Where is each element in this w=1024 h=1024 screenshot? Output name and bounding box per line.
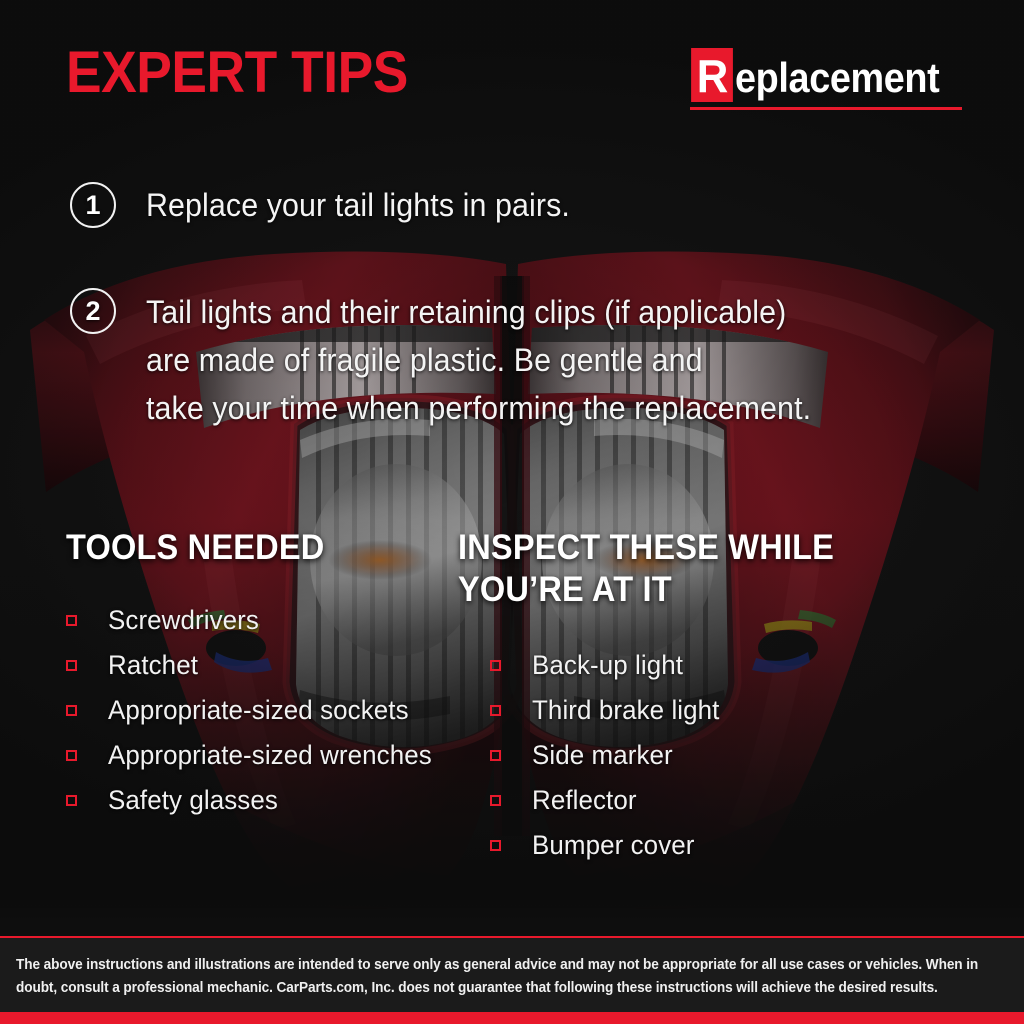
- list-item-label: Ratchet: [108, 652, 198, 679]
- list-item: Safety glasses: [66, 778, 445, 823]
- tools-needed-heading: TOOLS NEEDED: [66, 527, 438, 569]
- checkbox-square-icon: [66, 705, 77, 716]
- list-item: Ratchet: [66, 643, 445, 688]
- list-item-label: Screwdrivers: [108, 607, 259, 634]
- list-item: Screwdrivers: [66, 598, 445, 643]
- list-item: Appropriate-sized sockets: [66, 688, 445, 733]
- inspect-these-list: Back-up light Third brake light Side mar…: [490, 643, 727, 868]
- page-title: EXPERT TIPS: [66, 44, 408, 102]
- checkbox-square-icon: [66, 750, 77, 761]
- list-item-label: Safety glasses: [108, 787, 278, 814]
- list-item-label: Back-up light: [532, 652, 683, 679]
- inspect-these-heading: INSPECT THESE WHILE YOU’RE AT IT: [458, 527, 858, 611]
- brand-initial-badge: R: [691, 48, 733, 102]
- checkbox-square-icon: [490, 705, 501, 716]
- tip-number-badge-1: 1: [70, 182, 116, 228]
- list-item-label: Appropriate-sized sockets: [108, 697, 409, 724]
- tip-item-1: 1 Replace your tail lights in pairs.: [70, 182, 592, 228]
- checkbox-square-icon: [490, 750, 501, 761]
- list-item-label: Appropriate-sized wrenches: [108, 742, 432, 769]
- list-item-label: Third brake light: [532, 697, 719, 724]
- list-item-label: Side marker: [532, 742, 673, 769]
- expert-tips-infographic: EXPERT TIPS R eplacement 1 Replace your …: [0, 0, 1024, 1024]
- tip-item-2: 2 Tail lights and their retaining clips …: [70, 288, 846, 432]
- brand-wordmark: eplacement: [735, 54, 939, 102]
- checkbox-square-icon: [490, 795, 501, 806]
- checkbox-square-icon: [66, 660, 77, 671]
- tip-text-1: Replace your tail lights in pairs.: [146, 182, 570, 228]
- list-item: Back-up light: [490, 643, 727, 688]
- list-item-label: Reflector: [532, 787, 637, 814]
- checkbox-square-icon: [66, 795, 77, 806]
- list-item: Side marker: [490, 733, 727, 778]
- tip-number-badge-2: 2: [70, 288, 116, 334]
- list-item-label: Bumper cover: [532, 832, 694, 859]
- footer-disclaimer-text: The above instructions and illustrations…: [16, 954, 1004, 1000]
- list-item: Third brake light: [490, 688, 727, 733]
- list-item: Bumper cover: [490, 823, 727, 868]
- footer-body: The above instructions and illustrations…: [0, 938, 1024, 1012]
- checkbox-square-icon: [66, 615, 77, 626]
- list-item: Reflector: [490, 778, 727, 823]
- footer: The above instructions and illustrations…: [0, 936, 1024, 1024]
- tools-needed-list: Screwdrivers Ratchet Appropriate-sized s…: [66, 598, 445, 823]
- checkbox-square-icon: [490, 660, 501, 671]
- checkbox-square-icon: [490, 840, 501, 851]
- brand-logo: R eplacement: [690, 48, 962, 110]
- tip-text-2: Tail lights and their retaining clips (i…: [146, 288, 811, 432]
- footer-accent-bar: [0, 1012, 1024, 1024]
- list-item: Appropriate-sized wrenches: [66, 733, 445, 778]
